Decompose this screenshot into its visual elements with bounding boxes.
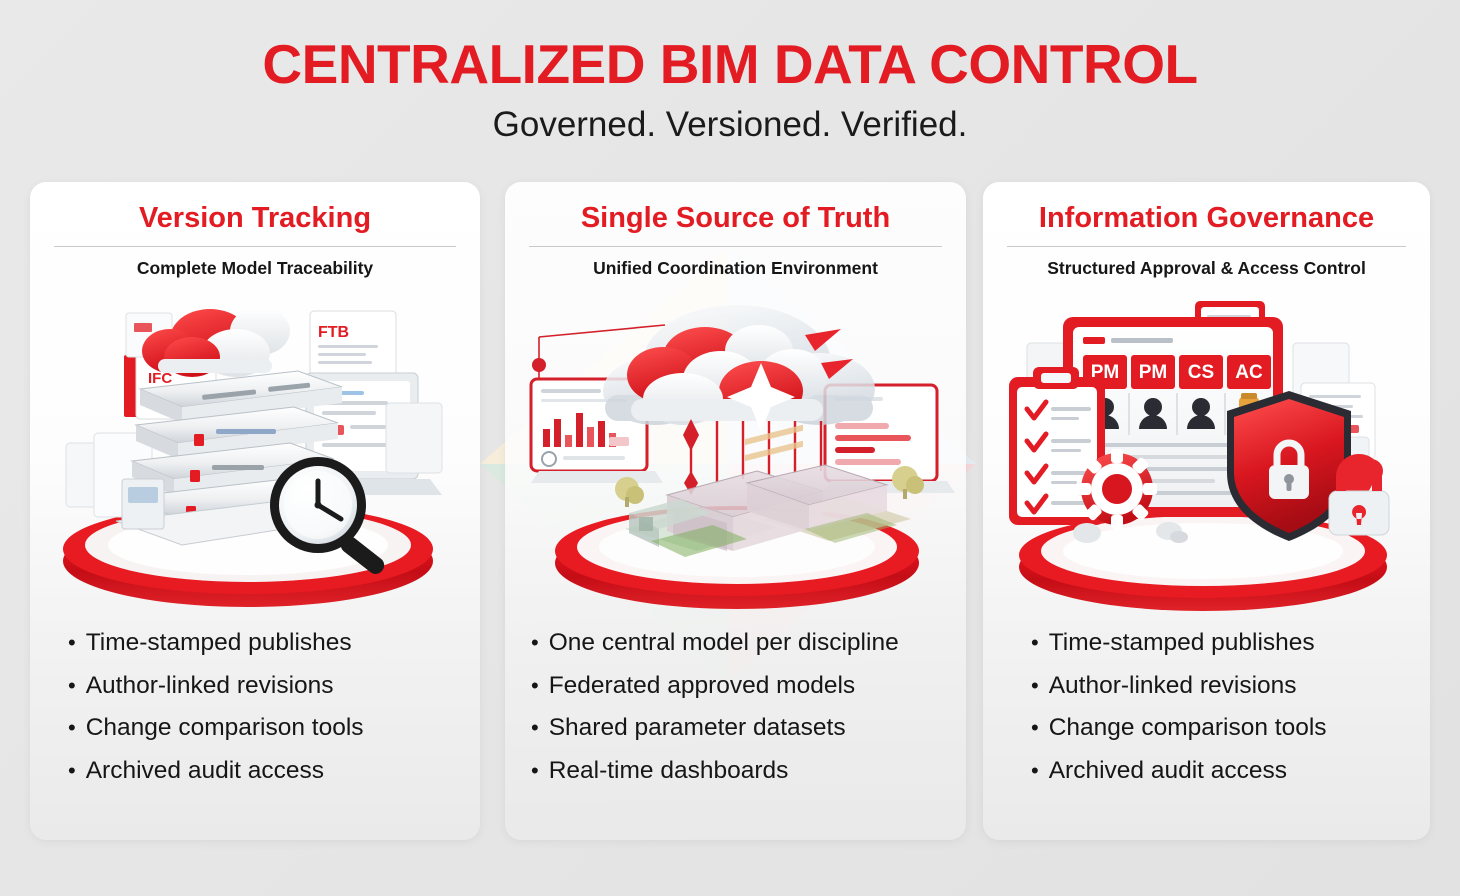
bullet-text: Federated approved models <box>549 674 855 699</box>
page-header: CENTRALIZED BIM DATA CONTROL Governed. V… <box>0 0 1460 144</box>
gear-icon <box>1077 449 1157 529</box>
illustration-svg: IFC FTB <box>30 283 480 623</box>
list-item: •Change comparison tools <box>1031 716 1430 741</box>
bullet-text: Author-linked revisions <box>86 674 334 699</box>
card-title: Version Tracking <box>30 202 480 235</box>
feature-bullet-list: •One central model per discipline •Feder… <box>505 631 966 783</box>
role-label-pm-2: PM <box>1139 362 1168 383</box>
bullet-dot: • <box>531 632 539 654</box>
bullet-dot: • <box>1031 717 1039 739</box>
card-title: Information Governance <box>983 202 1430 235</box>
card-divider <box>54 246 456 247</box>
role-label-cs: CS <box>1188 362 1214 383</box>
list-item: •Author-linked revisions <box>1031 674 1430 699</box>
list-item: •Federated approved models <box>531 674 966 699</box>
role-label-ac: AC <box>1235 362 1263 383</box>
bullet-dot: • <box>68 717 76 739</box>
card-subtitle: Complete Model Traceability <box>30 258 480 279</box>
list-item: •Author-linked revisions <box>68 674 480 699</box>
bullet-text: Time-stamped publishes <box>1049 631 1315 656</box>
list-item: •Real-time dashboards <box>531 759 966 784</box>
bullet-dot: • <box>68 760 76 782</box>
illustration-central-cloud-model <box>505 283 966 623</box>
page-title: CENTRALIZED BIM DATA CONTROL <box>0 36 1460 94</box>
card-header: Single Source of Truth Unified Coordinat… <box>505 182 966 279</box>
list-item: •Change comparison tools <box>68 716 480 741</box>
list-item: •Archived audit access <box>68 759 480 784</box>
bullet-text: Archived audit access <box>86 759 324 784</box>
bullet-dot: • <box>1031 760 1039 782</box>
bullet-text: Shared parameter datasets <box>549 716 846 741</box>
bullet-text: Archived audit access <box>1049 759 1287 784</box>
bullet-dot: • <box>1031 632 1039 654</box>
bullet-text: Real-time dashboards <box>549 759 789 784</box>
bullet-text: Time-stamped publishes <box>86 631 352 656</box>
feature-bullet-list: •Time-stamped publishes •Author-linked r… <box>30 631 480 783</box>
bullet-dot: • <box>531 760 539 782</box>
illustration-svg <box>505 283 966 623</box>
list-item: •Time-stamped publishes <box>68 631 480 656</box>
bullet-dot: • <box>531 717 539 739</box>
card-divider <box>1007 246 1406 247</box>
card-subtitle: Unified Coordination Environment <box>505 258 966 279</box>
list-item: •Archived audit access <box>1031 759 1430 784</box>
card-single-source-of-truth[interactable]: Single Source of Truth Unified Coordinat… <box>505 182 966 840</box>
card-header: Information Governance Structured Approv… <box>983 182 1430 279</box>
card-header: Version Tracking Complete Model Traceabi… <box>30 182 480 279</box>
list-item: •One central model per discipline <box>531 631 966 656</box>
illustration-approval-board: PM PM CS AC <box>983 283 1430 623</box>
bullet-text: One central model per discipline <box>549 631 899 656</box>
label-ftb: FTB <box>318 324 349 341</box>
bullet-dot: • <box>1031 675 1039 697</box>
feature-bullet-list: •Time-stamped publishes •Author-linked r… <box>983 631 1430 783</box>
feature-card-row: Version Tracking Complete Model Traceabi… <box>0 182 1460 842</box>
card-information-governance[interactable]: Information Governance Structured Approv… <box>983 182 1430 840</box>
padlock-icon <box>1329 459 1389 535</box>
card-subtitle: Structured Approval & Access Control <box>983 258 1430 279</box>
list-item: •Shared parameter datasets <box>531 716 966 741</box>
illustration-svg: PM PM CS AC <box>983 283 1430 623</box>
bullet-dot: • <box>531 675 539 697</box>
bullet-text: Author-linked revisions <box>1049 674 1297 699</box>
page-subtitle: Governed. Versioned. Verified. <box>0 106 1460 145</box>
list-item: •Time-stamped publishes <box>1031 631 1430 656</box>
bullet-text: Change comparison tools <box>86 716 364 741</box>
illustration-layered-model-stack: IFC FTB <box>30 283 480 623</box>
card-divider <box>529 246 942 247</box>
bullet-dot: • <box>68 675 76 697</box>
bullet-dot: • <box>68 632 76 654</box>
bullet-text: Change comparison tools <box>1049 716 1327 741</box>
card-version-tracking[interactable]: Version Tracking Complete Model Traceabi… <box>30 182 480 840</box>
card-title: Single Source of Truth <box>505 202 966 235</box>
